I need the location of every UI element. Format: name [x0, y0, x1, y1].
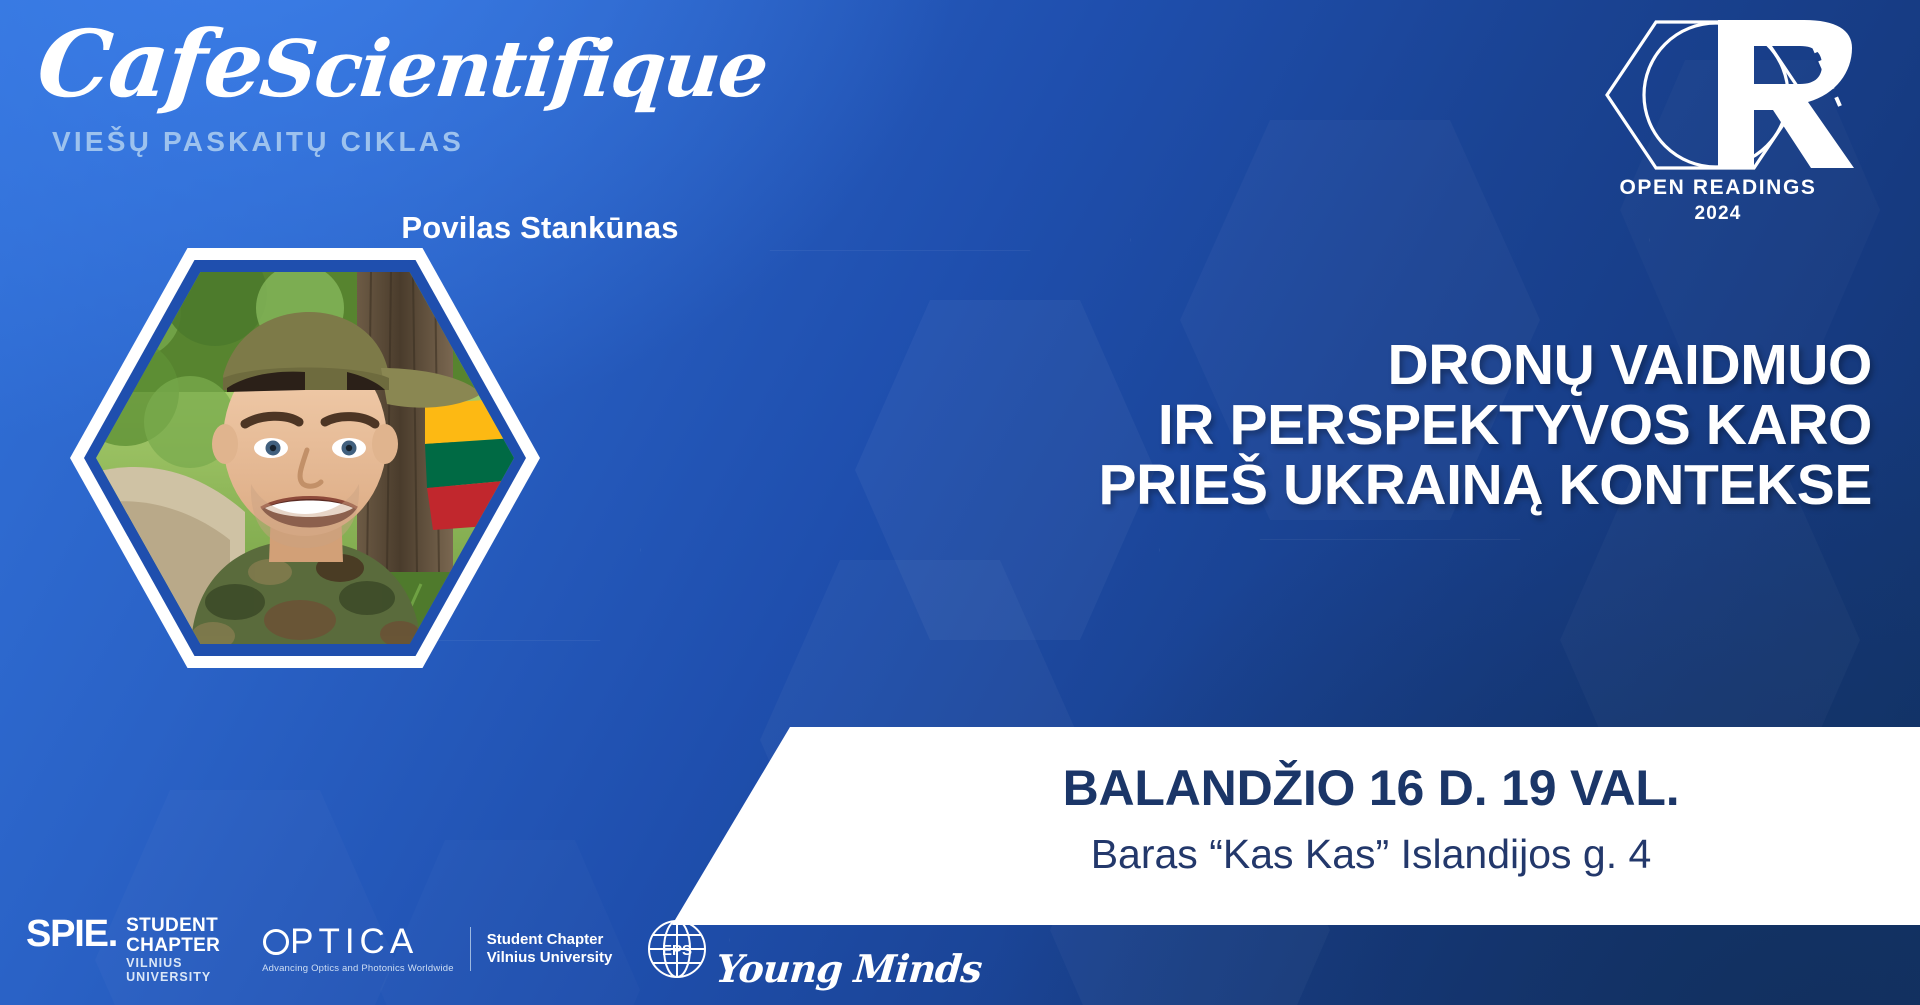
brand-script-cafe: Cafe [33, 10, 267, 118]
sponsor-logos: SPIE. STUDENT CHAPTER VILNIUS UNIVERSITY… [26, 907, 982, 991]
brand-script-scientifique: Scientifique [256, 24, 771, 115]
lecture-title-line-3: PRIEŠ UKRAINĄ KONTEKSE [802, 455, 1872, 515]
letter-r-glyph [1718, 20, 1854, 168]
young-minds-wordmark: Young Minds [714, 946, 983, 991]
date-venue-banner: BALANDŽIO 16 D. 19 VAL. Baras “Kas Kas” … [672, 727, 1920, 925]
open-readings-logo: OPEN READINGS 2024 [1568, 10, 1868, 220]
lecture-title-line-2: IR PERSPEKTYVOS KARO [802, 395, 1872, 455]
optica-row: PTICA Advancing Optics and Photonics Wor… [262, 924, 612, 974]
optica-divider [470, 927, 471, 971]
spie-wordmark: SPIE. [26, 915, 117, 953]
optica-chapter-text: Student Chapter Vilnius University [487, 931, 613, 967]
event-venue: Baras “Kas Kas” Islandijos g. 4 [822, 831, 1920, 878]
open-readings-r-icon [1568, 10, 1868, 180]
optica-logo: PTICA Advancing Optics and Photonics Wor… [262, 924, 612, 974]
spie-line-vilnius: VILNIUS [126, 956, 220, 970]
eps-globe-icon: EPS [646, 918, 708, 980]
optica-letters: PTICA [290, 924, 418, 960]
optica-o-icon [262, 927, 290, 957]
poster-canvas: CafeScientifique VIEŠŲ PASKAITŲ CIKLAS O… [0, 0, 1920, 1005]
lecture-title-line-1: DRONŲ VAIDMUO [802, 335, 1872, 395]
spie-line-student: STUDENT [126, 916, 220, 936]
spie-line-university: UNIVERSITY [126, 970, 220, 984]
brand-subtitle: VIEŠŲ PASKAITŲ CIKLAS [52, 126, 498, 158]
optica-chapter-line-2: Vilnius University [487, 949, 613, 967]
young-minds-text-block: Young Minds [716, 907, 981, 991]
optica-chapter-line-1: Student Chapter [487, 931, 613, 949]
optica-tagline: Advancing Optics and Photonics Worldwide [262, 963, 454, 974]
spie-student-chapter-logo: SPIE. STUDENT CHAPTER VILNIUS UNIVERSITY [26, 915, 220, 984]
eps-young-minds-logo: EPS Young Minds [646, 907, 981, 991]
brand-block: CafeScientifique VIEŠŲ PASKAITŲ CIKLAS [38, 22, 498, 158]
optica-wordmark: PTICA [262, 924, 454, 960]
spie-chapter-text: STUDENT CHAPTER VILNIUS UNIVERSITY [126, 916, 220, 984]
eps-globe-label: EPS [662, 942, 692, 959]
speaker-photo-hexagon [70, 248, 540, 668]
cafe-scientifique-logo: CafeScientifique [33, 22, 502, 112]
speaker-name: Povilas Stankūnas [0, 210, 1080, 246]
open-readings-title: OPEN READINGS [1568, 176, 1868, 200]
young-minds-stars-icon [716, 907, 868, 941]
spie-line-chapter: CHAPTER [126, 936, 220, 956]
open-readings-year: 2024 [1568, 203, 1868, 225]
lecture-title: DRONŲ VAIDMUO IR PERSPEKTYVOS KARO PRIEŠ… [802, 335, 1872, 515]
event-date: BALANDŽIO 16 D. 19 VAL. [822, 759, 1920, 817]
